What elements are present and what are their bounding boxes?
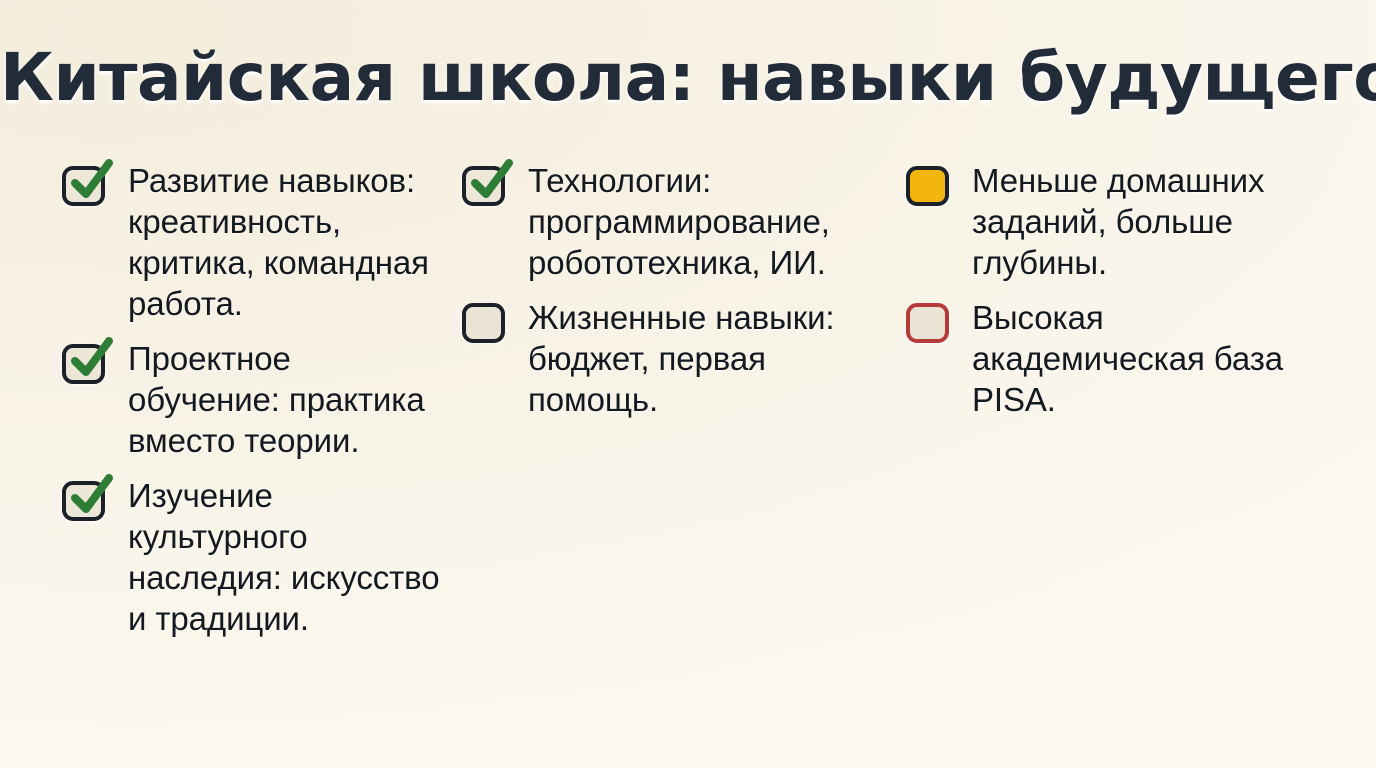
list-item[interactable]: Высокая академическая база PISA. — [906, 297, 1310, 420]
list-item-label: Изучение культурного наследия: искусство… — [128, 475, 450, 639]
checkbox-box — [62, 166, 105, 206]
checkbox-checked-icon[interactable] — [462, 166, 506, 207]
page-title: Китайская школа: навыки будущего — [0, 40, 1376, 116]
checkbox-box — [62, 481, 105, 521]
list-item[interactable]: Проектное обучение: практика вместо теор… — [62, 338, 450, 461]
bullet-columns: Развитие навыков: креативность, критика,… — [0, 160, 1376, 653]
column-3: Меньше домашних заданий, больше глубины.… — [890, 160, 1310, 434]
checkbox-box — [462, 166, 505, 206]
checkbox-box — [906, 303, 949, 343]
checkbox-box — [462, 303, 505, 343]
list-item-label: Меньше домашних заданий, больше глубины. — [972, 160, 1310, 283]
checkbox-checked-icon[interactable] — [62, 344, 106, 385]
list-item-label: Жизненные навыки: бюджет, первая помощь. — [528, 297, 890, 420]
checkbox-danger-icon[interactable] — [906, 303, 950, 344]
slide-root: Китайская школа: навыки будущего Развити… — [0, 0, 1376, 768]
checkbox-box — [906, 166, 949, 206]
checkbox-filled-icon[interactable] — [906, 166, 950, 207]
list-item[interactable]: Технологии: программирование, робототехн… — [462, 160, 890, 283]
list-item-label: Высокая академическая база PISA. — [972, 297, 1310, 420]
list-item[interactable]: Меньше домашних заданий, больше глубины. — [906, 160, 1310, 283]
title-container: Китайская школа: навыки будущего — [0, 40, 1376, 116]
checkbox-box — [62, 344, 105, 384]
checkbox-empty-icon[interactable] — [462, 303, 506, 344]
column-1: Развитие навыков: креативность, критика,… — [0, 160, 450, 653]
list-item-label: Технологии: программирование, робототехн… — [528, 160, 890, 283]
list-item-label: Проектное обучение: практика вместо теор… — [128, 338, 450, 461]
list-item[interactable]: Изучение культурного наследия: искусство… — [62, 475, 450, 639]
list-item-label: Развитие навыков: креативность, критика,… — [128, 160, 450, 324]
checkbox-checked-icon[interactable] — [62, 166, 106, 207]
column-2: Технологии: программирование, робототехн… — [450, 160, 890, 434]
checkbox-checked-icon[interactable] — [62, 481, 106, 522]
list-item[interactable]: Развитие навыков: креативность, критика,… — [62, 160, 450, 324]
list-item[interactable]: Жизненные навыки: бюджет, первая помощь. — [462, 297, 890, 420]
